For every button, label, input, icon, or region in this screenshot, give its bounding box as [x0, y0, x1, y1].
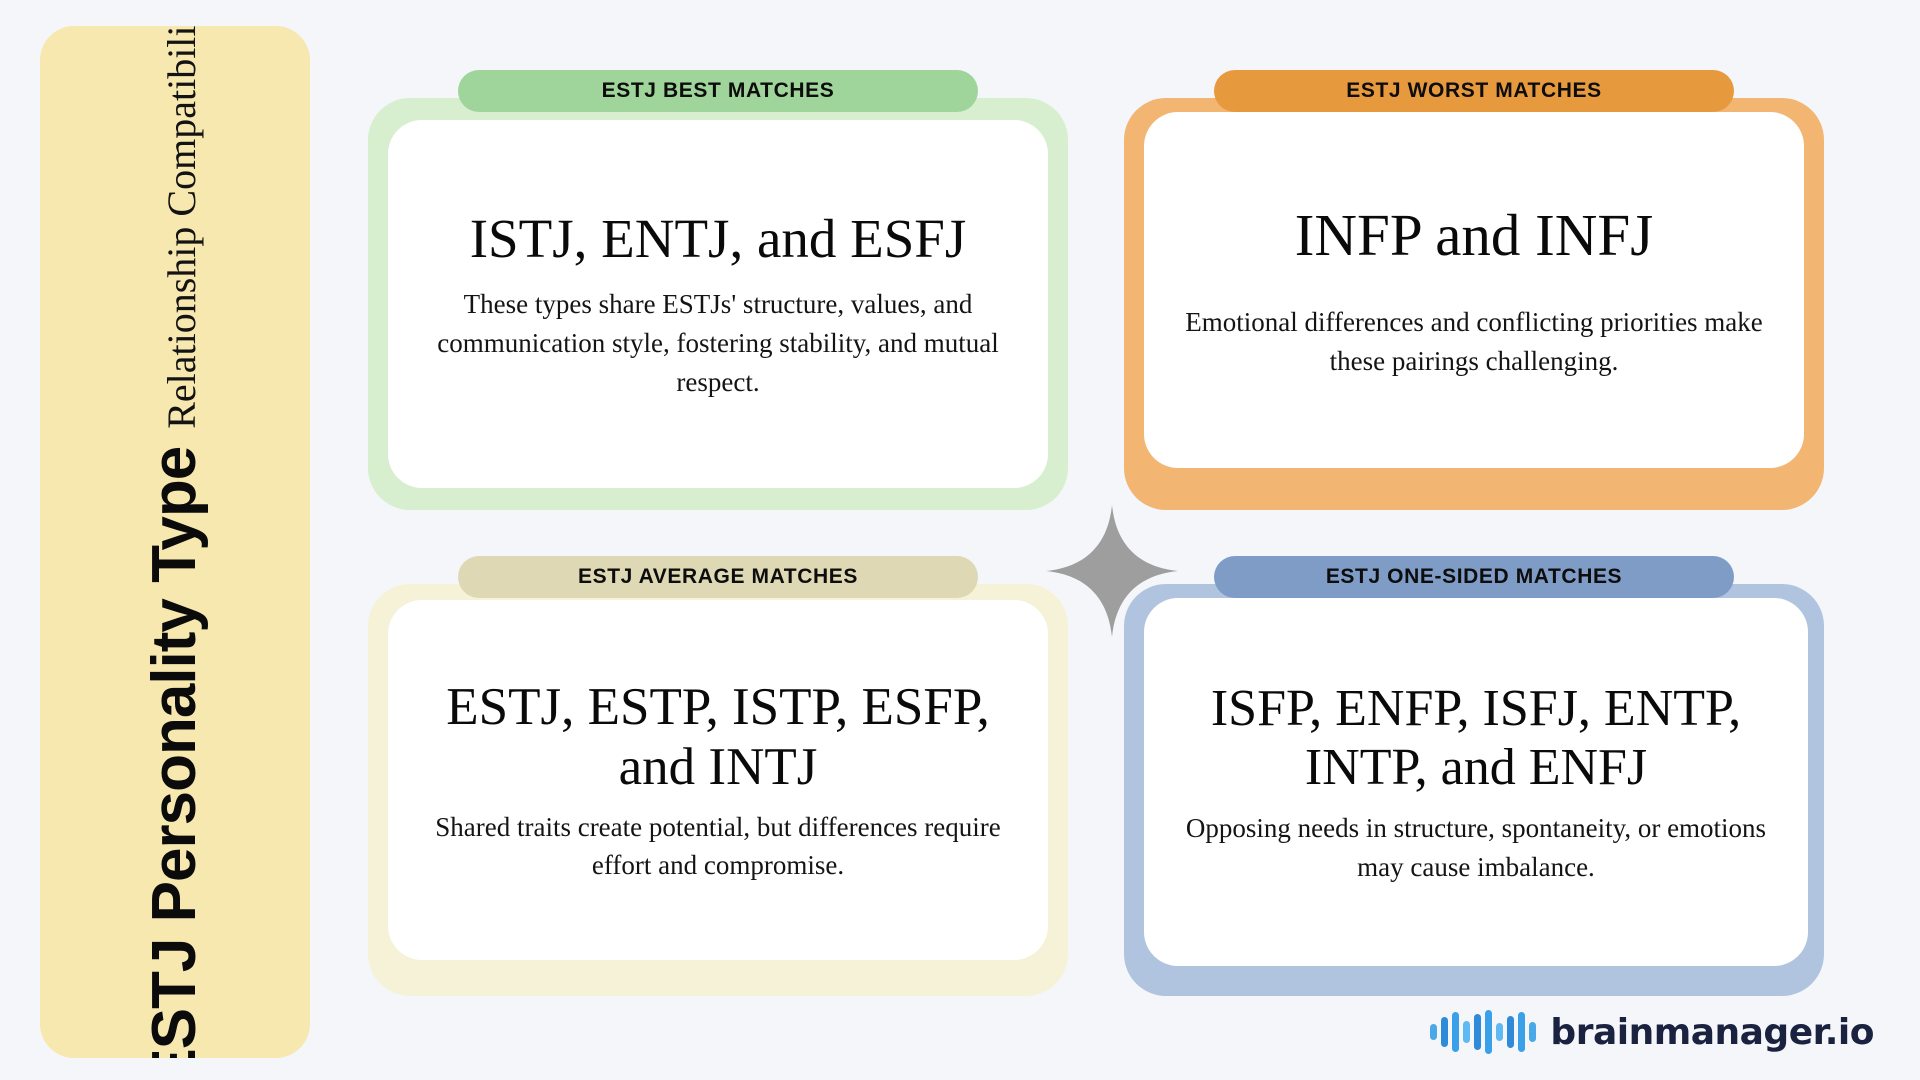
card-header-label: ESTJ ONE-SIDED MATCHES — [1326, 565, 1622, 589]
card-body-worst: INFP and INFJ Emotional differences and … — [1144, 112, 1804, 468]
card-header-pill-average: ESTJ AVERAGE MATCHES — [458, 556, 978, 598]
page-subtitle: Relationship Compatibility — [162, 26, 202, 429]
sparkle-icon — [1046, 505, 1178, 637]
page-title: ESTJ Personality Type — [144, 447, 206, 1058]
card-description: Shared traits create potential, but diff… — [422, 808, 1014, 886]
card-header-label: ESTJ WORST MATCHES — [1346, 79, 1601, 103]
brand-name: brainmanager.io — [1550, 1012, 1874, 1053]
card-heading: INFP and INFJ — [1295, 202, 1653, 269]
card-header-pill-one-sided: ESTJ ONE-SIDED MATCHES — [1214, 556, 1734, 598]
card-heading: ISFP, ENFP, ISFJ, ENTP, INTP, and ENFJ — [1178, 679, 1774, 798]
card-body-best: ISTJ, ENTJ, and ESFJ These types share E… — [388, 120, 1048, 488]
card-header-label: ESTJ AVERAGE MATCHES — [578, 565, 858, 589]
brand-logo: brainmanager.io — [1430, 1010, 1874, 1054]
card-description: Opposing needs in structure, spontaneity… — [1178, 809, 1774, 887]
card-header-label: ESTJ BEST MATCHES — [602, 79, 835, 103]
card-header-pill-worst: ESTJ WORST MATCHES — [1214, 70, 1734, 112]
card-worst-matches: ESTJ WORST MATCHES INFP and INFJ Emotion… — [1124, 70, 1824, 510]
card-one-sided-matches: ESTJ ONE-SIDED MATCHES ISFP, ENFP, ISFJ,… — [1124, 556, 1824, 996]
audio-waveform-icon — [1430, 1010, 1536, 1054]
sidebar-rotated-text: ESTJ Personality Type Relationship Compa… — [144, 37, 206, 1047]
card-heading: ISTJ, ENTJ, and ESFJ — [470, 208, 967, 271]
card-heading: ESTJ, ESTP, ISTP, ESFP, and INTJ — [422, 677, 1014, 798]
card-body-average: ESTJ, ESTP, ISTP, ESFP, and INTJ Shared … — [388, 600, 1048, 960]
card-description: These types share ESTJs' structure, valu… — [422, 285, 1014, 402]
card-average-matches: ESTJ AVERAGE MATCHES ESTJ, ESTP, ISTP, E… — [368, 556, 1068, 996]
card-header-pill-best: ESTJ BEST MATCHES — [458, 70, 978, 112]
card-best-matches: ESTJ BEST MATCHES ISTJ, ENTJ, and ESFJ T… — [368, 70, 1068, 510]
title-sidebar: ESTJ Personality Type Relationship Compa… — [40, 26, 310, 1058]
card-body-one-sided: ISFP, ENFP, ISFJ, ENTP, INTP, and ENFJ O… — [1144, 598, 1808, 966]
card-description: Emotional differences and conflicting pr… — [1178, 303, 1770, 381]
